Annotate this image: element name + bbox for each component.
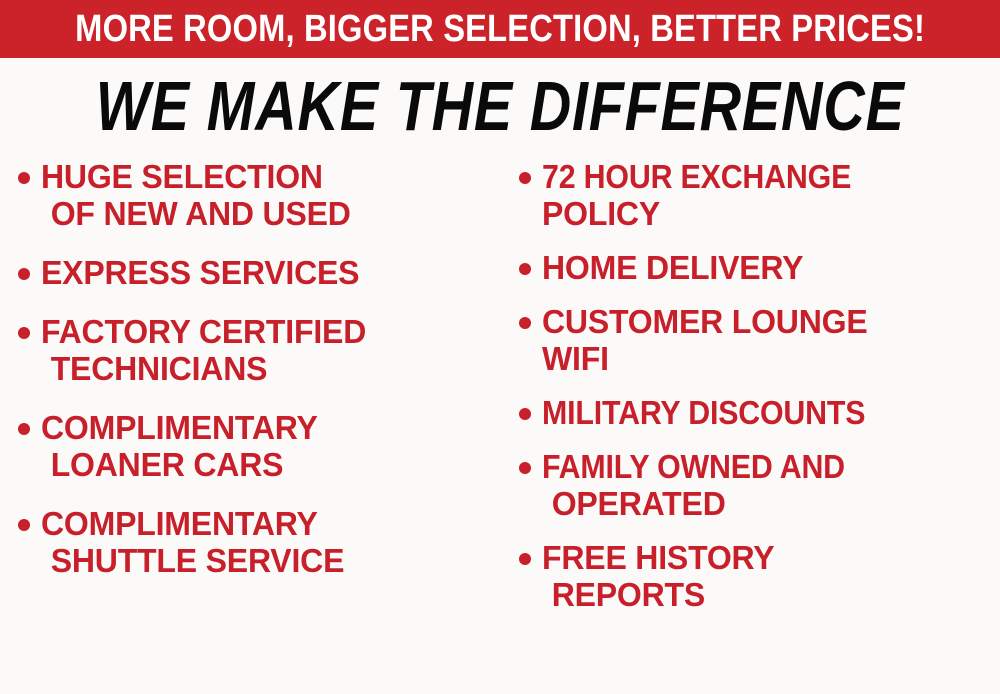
list-item-line-1: FAMILY OWNED AND — [542, 448, 963, 485]
main-headline-area: WE MAKE THE DIFFERENCE — [0, 64, 1000, 148]
list-item-line-1: MILITARY DISCOUNTS — [542, 394, 963, 431]
bullet-dot-icon — [519, 263, 531, 275]
list-item-line-2: TECHNICIANS — [41, 350, 487, 387]
list-item: CUSTOMER LOUNGE WIFI — [519, 303, 1000, 377]
list-item-line-1: HOME DELIVERY — [542, 249, 986, 286]
bullet-dot-icon — [519, 462, 531, 474]
list-item-text: COMPLIMENTARY LOANER CARS — [41, 409, 501, 483]
list-item-text: 72 HOUR EXCHANGE POLICY — [542, 158, 1000, 232]
bullet-dot-icon — [18, 519, 30, 531]
list-item: COMPLIMENTARY LOANER CARS — [18, 409, 501, 483]
list-item: MILITARY DISCOUNTS — [519, 394, 1000, 431]
list-item: EXPRESS SERVICES — [18, 254, 501, 291]
bullet-dot-icon — [519, 317, 531, 329]
bullet-dot-icon — [519, 172, 531, 184]
main-headline-text: WE MAKE THE DIFFERENCE — [96, 71, 905, 141]
list-item-text: EXPRESS SERVICES — [41, 254, 501, 291]
list-item-line-1: HUGE SELECTION — [41, 158, 487, 195]
list-item-line-1: CUSTOMER LOUNGE — [542, 303, 986, 340]
top-banner: MORE ROOM, BIGGER SELECTION, BETTER PRIC… — [0, 0, 1000, 58]
list-item-line-2: OPERATED — [542, 485, 986, 522]
bullet-dot-icon — [519, 408, 531, 420]
features-column-right: 72 HOUR EXCHANGE POLICY HOME DELIVERY CU… — [505, 158, 1000, 630]
bullet-dot-icon — [18, 172, 30, 184]
list-item: FREE HISTORY REPORTS — [519, 539, 1000, 613]
list-item: FAMILY OWNED AND OPERATED — [519, 448, 1000, 522]
bullet-dot-icon — [519, 553, 531, 565]
list-item: HUGE SELECTION OF NEW AND USED — [18, 158, 501, 232]
promo-poster: MORE ROOM, BIGGER SELECTION, BETTER PRIC… — [0, 0, 1000, 694]
list-item-line-2: WIFI — [542, 340, 986, 377]
list-item-line-2: OF NEW AND USED — [41, 195, 487, 232]
list-item-line-2: LOANER CARS — [41, 446, 487, 483]
list-item-text: FREE HISTORY REPORTS — [542, 539, 1000, 613]
bullet-dot-icon — [18, 327, 30, 339]
list-item-line-1: 72 HOUR EXCHANGE — [542, 158, 963, 195]
list-item-text: FAMILY OWNED AND OPERATED — [542, 448, 1000, 522]
bullet-dot-icon — [18, 268, 30, 280]
list-item: FACTORY CERTIFIED TECHNICIANS — [18, 313, 501, 387]
list-item-text: CUSTOMER LOUNGE WIFI — [542, 303, 1000, 377]
list-item-text: HOME DELIVERY — [542, 249, 1000, 286]
banner-headline-text: MORE ROOM, BIGGER SELECTION, BETTER PRIC… — [75, 10, 925, 48]
list-item-text: MILITARY DISCOUNTS — [542, 394, 1000, 431]
list-item: HOME DELIVERY — [519, 249, 1000, 286]
features-column-left: HUGE SELECTION OF NEW AND USED EXPRESS S… — [0, 158, 505, 601]
list-item-line-1: COMPLIMENTARY — [41, 409, 487, 446]
list-item-line-2: REPORTS — [542, 576, 986, 613]
bullet-dot-icon — [18, 423, 30, 435]
features-columns: HUGE SELECTION OF NEW AND USED EXPRESS S… — [0, 158, 1000, 694]
list-item: COMPLIMENTARY SHUTTLE SERVICE — [18, 505, 501, 579]
list-item-text: FACTORY CERTIFIED TECHNICIANS — [41, 313, 501, 387]
list-item-line-2: POLICY — [542, 195, 986, 232]
list-item-line-1: FREE HISTORY — [542, 539, 986, 576]
list-item-line-2: SHUTTLE SERVICE — [41, 542, 487, 579]
list-item-text: COMPLIMENTARY SHUTTLE SERVICE — [41, 505, 501, 579]
list-item-line-1: EXPRESS SERVICES — [41, 254, 487, 291]
list-item: 72 HOUR EXCHANGE POLICY — [519, 158, 1000, 232]
list-item-text: HUGE SELECTION OF NEW AND USED — [41, 158, 501, 232]
list-item-line-1: FACTORY CERTIFIED — [41, 313, 487, 350]
list-item-line-1: COMPLIMENTARY — [41, 505, 487, 542]
